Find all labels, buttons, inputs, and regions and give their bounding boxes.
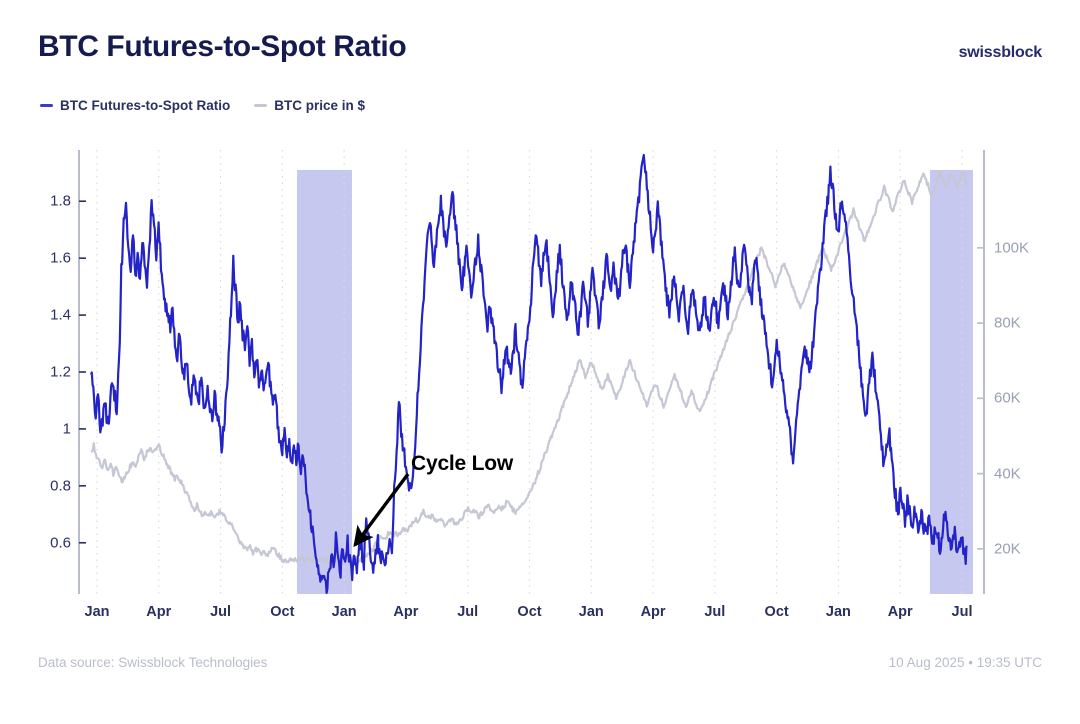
y-tick-label-left: 1.6 <box>27 250 71 267</box>
y-tick-label-left: 0.6 <box>27 534 71 551</box>
x-tick-label: Apr <box>393 604 418 620</box>
x-tick-label: Jul <box>952 604 973 620</box>
y-tick-label-right: 60K <box>994 390 1021 407</box>
y-tick-label-right: 100K <box>994 239 1029 256</box>
chart-canvas <box>79 150 984 594</box>
x-tick-label: Jan <box>579 604 604 620</box>
legend-swatch-ratio <box>40 104 53 107</box>
page-title: BTC Futures-to-Spot Ratio <box>38 30 406 64</box>
x-tick-label: Oct <box>517 604 541 620</box>
legend-label-price: BTC price in $ <box>274 98 365 113</box>
y-tick-label-left: 1.4 <box>27 307 71 324</box>
y-tick-label-left: 1.2 <box>27 364 71 381</box>
y-tick-label-left: 1.8 <box>27 193 71 210</box>
x-tick-label: Jan <box>332 604 357 620</box>
x-tick-label: Jan <box>85 604 110 620</box>
annotation-cycle-low: Cycle Low <box>411 452 513 476</box>
x-tick-label: Apr <box>888 604 913 620</box>
x-tick-label: Jul <box>457 604 478 620</box>
x-tick-label: Jul <box>210 604 231 620</box>
x-tick-label: Oct <box>765 604 789 620</box>
plot-area <box>79 150 984 594</box>
x-tick-label: Jul <box>704 604 725 620</box>
legend-item-price[interactable]: BTC price in $ <box>254 98 365 113</box>
footer-timestamp: 10 Aug 2025 • 19:35 UTC <box>889 655 1042 670</box>
highlight-band <box>930 170 973 594</box>
y-tick-label-right: 20K <box>994 540 1021 557</box>
y-tick-label-right: 40K <box>994 465 1021 482</box>
legend-swatch-price <box>254 104 267 107</box>
chart-legend: BTC Futures-to-Spot Ratio BTC price in $ <box>40 98 365 113</box>
x-tick-label: Apr <box>641 604 666 620</box>
brand-logo: swissblock <box>959 44 1042 62</box>
legend-label-ratio: BTC Futures-to-Spot Ratio <box>60 98 230 113</box>
price-line <box>91 171 967 563</box>
chart-page: BTC Futures-to-Spot Ratio swissblock BTC… <box>0 0 1080 724</box>
y-tick-label-left: 0.8 <box>27 477 71 494</box>
footer-source: Data source: Swissblock Technologies <box>38 655 267 670</box>
x-tick-label: Oct <box>270 604 294 620</box>
legend-item-ratio[interactable]: BTC Futures-to-Spot Ratio <box>40 98 230 113</box>
x-tick-label: Apr <box>146 604 171 620</box>
y-tick-label-right: 80K <box>994 315 1021 332</box>
highlight-band <box>297 170 352 594</box>
y-tick-label-left: 1 <box>27 420 71 437</box>
x-tick-label: Jan <box>826 604 851 620</box>
